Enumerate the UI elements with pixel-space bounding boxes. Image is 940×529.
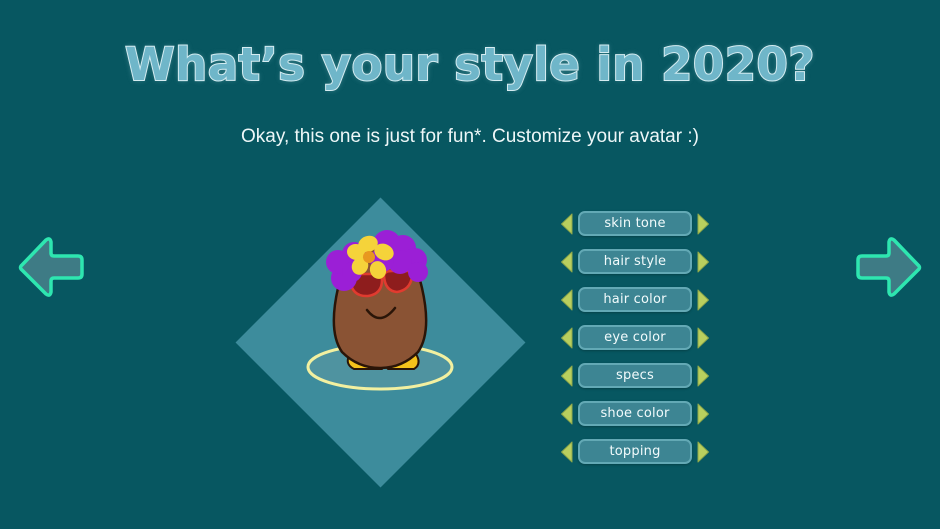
option-button-skin-tone[interactable]: skin tone — [578, 211, 692, 236]
option-label-specs: specs — [616, 368, 654, 383]
option-next-arrow-shoe-color[interactable] — [696, 403, 710, 425]
option-next-arrow-specs[interactable] — [696, 365, 710, 387]
option-row-eye-color: eye color — [560, 324, 710, 351]
option-prev-arrow-topping[interactable] — [560, 441, 574, 463]
arrow-right-icon — [852, 232, 924, 302]
option-next-arrow-eye-color[interactable] — [696, 327, 710, 349]
option-next-arrow-hair-style[interactable] — [696, 251, 710, 273]
option-prev-arrow-shoe-color[interactable] — [560, 403, 574, 425]
option-button-hair-style[interactable]: hair style — [578, 249, 692, 274]
option-row-shoe-color: shoe color — [560, 400, 710, 427]
page-title: What’s your style in 2020? — [0, 38, 940, 91]
option-label-skin-tone: skin tone — [604, 216, 665, 231]
previous-question-arrow[interactable] — [16, 232, 88, 302]
option-label-eye-color: eye color — [604, 330, 666, 345]
option-button-specs[interactable]: specs — [578, 363, 692, 388]
option-button-eye-color[interactable]: eye color — [578, 325, 692, 350]
avatar-figure — [232, 182, 528, 502]
option-row-hair-style: hair style — [560, 248, 710, 275]
option-label-hair-style: hair style — [604, 254, 666, 269]
option-prev-arrow-skin-tone[interactable] — [560, 213, 574, 235]
next-question-arrow[interactable] — [852, 232, 924, 302]
quiz-screen: What’s your style in 2020? Okay, this on… — [0, 0, 940, 529]
option-prev-arrow-eye-color[interactable] — [560, 327, 574, 349]
arrow-left-icon — [16, 232, 88, 302]
option-next-arrow-skin-tone[interactable] — [696, 213, 710, 235]
option-prev-arrow-hair-color[interactable] — [560, 289, 574, 311]
option-label-shoe-color: shoe color — [600, 406, 669, 421]
option-button-hair-color[interactable]: hair color — [578, 287, 692, 312]
option-row-skin-tone: skin tone — [560, 210, 710, 237]
option-prev-arrow-specs[interactable] — [560, 365, 574, 387]
option-next-arrow-topping[interactable] — [696, 441, 710, 463]
customization-options: skin tonehair stylehair coloreye colorsp… — [560, 210, 710, 476]
avatar-preview — [232, 182, 528, 502]
option-button-topping[interactable]: topping — [578, 439, 692, 464]
option-next-arrow-hair-color[interactable] — [696, 289, 710, 311]
option-button-shoe-color[interactable]: shoe color — [578, 401, 692, 426]
page-subtitle: Okay, this one is just for fun*. Customi… — [0, 126, 940, 148]
option-row-hair-color: hair color — [560, 286, 710, 313]
option-label-hair-color: hair color — [603, 292, 666, 307]
option-row-topping: topping — [560, 438, 710, 465]
option-prev-arrow-hair-style[interactable] — [560, 251, 574, 273]
option-row-specs: specs — [560, 362, 710, 389]
option-label-topping: topping — [609, 444, 660, 459]
